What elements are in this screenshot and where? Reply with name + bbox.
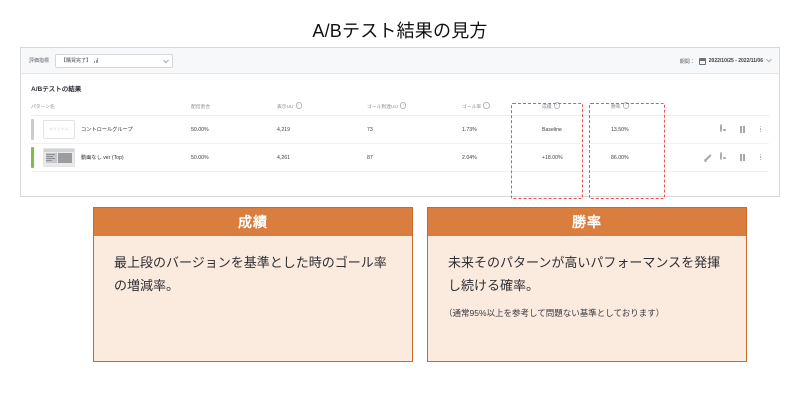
pause-icon[interactable] [738, 153, 747, 163]
callout-winrate-header: 勝率 [428, 208, 746, 236]
cell-delivery-ratio: 50.00% [191, 144, 277, 172]
info-icon[interactable] [623, 102, 630, 109]
info-icon[interactable] [296, 102, 303, 109]
pattern-thumbnail-screenshot[interactable] [43, 148, 75, 167]
cell-view-uu: 4,219 [277, 116, 367, 144]
pattern-name: コントロールグループ [81, 126, 133, 133]
period-label: 期間： [680, 58, 695, 65]
column-header-goal-rate: ゴール率 [462, 102, 542, 116]
kebab-menu-icon[interactable] [756, 153, 765, 163]
column-header-pattern: パターン名 [31, 102, 191, 116]
table-row[interactable]: オリジナル コントロールグループ 50.00% 4,219 73 1.73% B… [31, 116, 769, 144]
section-heading: A/Bテストの結果 [31, 83, 769, 93]
results-section: A/Bテストの結果 パターン名 配信割合 表示UU ゴール到達UU ゴール率 成… [21, 74, 779, 172]
cell-actions [684, 116, 769, 144]
row-accent-bar [31, 119, 34, 140]
column-header-goal-uu: ゴール到達UU [367, 102, 462, 116]
thumbnail-label: オリジナル [49, 127, 68, 132]
callout-winrate: 勝率 未来そのパターンが高いパフォーマンスを発揮し続ける確率。 （通常95%以上… [427, 207, 747, 362]
eye-icon[interactable] [720, 125, 729, 134]
cell-pattern: 動画なし ver (Top) [31, 144, 191, 172]
cell-goal-uu: 73 [367, 116, 462, 144]
cell-pattern: オリジナル コントロールグループ [31, 116, 191, 144]
chevron-down-icon [163, 57, 169, 63]
pattern-name: 動画なし ver (Top) [81, 154, 124, 161]
period-control[interactable]: 期間： 2022/10/25 - 2022/11/06 [680, 48, 771, 74]
callout-score-header: 成績 [94, 208, 412, 236]
cell-delivery-ratio: 50.00% [191, 116, 277, 144]
date-range-field[interactable]: 2022/10/25 - 2022/11/06 [699, 58, 763, 65]
cell-win-rate: 86.00% [611, 144, 684, 172]
pause-icon[interactable] [738, 125, 747, 135]
cell-goal-rate: 2.04% [462, 144, 542, 172]
pattern-thumbnail-original[interactable]: オリジナル [43, 120, 75, 139]
column-header-win-rate: 勝率 [611, 102, 684, 116]
info-icon[interactable] [483, 102, 490, 109]
bar-chart-icon [94, 58, 98, 63]
table-row[interactable]: 動画なし ver (Top) 50.00% 4,261 87 2.04% +18… [31, 144, 769, 172]
ab-results-table: パターン名 配信割合 表示UU ゴール到達UU ゴール率 成績 勝率 [31, 102, 769, 172]
callout-winrate-note: （通常95%以上を参考して問題ない基準としております） [428, 298, 746, 320]
date-range-value: 2022/10/25 - 2022/11/06 [709, 58, 763, 64]
metric-label: 評価指標 [29, 57, 49, 64]
info-icon[interactable] [554, 102, 561, 109]
metric-select-value: 【購買完了】 [61, 57, 91, 64]
chevron-down-icon [766, 57, 772, 63]
cell-view-uu: 4,261 [277, 144, 367, 172]
cell-goal-uu: 87 [367, 144, 462, 172]
cell-score: +18.00% [542, 144, 611, 172]
callout-score-body: 最上段のバージョンを基準とした時のゴール率の増減率。 [94, 236, 412, 298]
column-header-delivery-ratio: 配信割合 [191, 102, 277, 116]
row-accent-bar [31, 147, 34, 168]
kebab-menu-icon[interactable] [756, 125, 765, 135]
column-header-view-uu: 表示UU [277, 102, 367, 116]
table-header-row: パターン名 配信割合 表示UU ゴール到達UU ゴール率 成績 勝率 [31, 102, 769, 116]
page-title: A/Bテスト結果の見方 [0, 17, 800, 43]
column-header-actions [684, 102, 769, 116]
callout-score: 成績 最上段のバージョンを基準とした時のゴール率の増減率。 [93, 207, 413, 362]
app-toolbar: 評価指標 【購買完了】 期間： 2022/10/25 - 2022/11/06 [21, 48, 779, 74]
info-icon[interactable] [400, 102, 407, 109]
pencil-icon[interactable] [703, 154, 711, 162]
cell-win-rate: 13.50% [611, 116, 684, 144]
cell-actions [684, 144, 769, 172]
eye-icon[interactable] [720, 153, 729, 162]
column-header-score: 成績 [542, 102, 611, 116]
calendar-icon [699, 58, 706, 65]
metric-select[interactable]: 【購買完了】 [55, 54, 173, 68]
callout-winrate-body: 未来そのパターンが高いパフォーマンスを発揮し続ける確率。 [428, 236, 746, 298]
cell-goal-rate: 1.73% [462, 116, 542, 144]
cell-score: Baseline [542, 116, 611, 144]
ab-test-result-screenshot: 評価指標 【購買完了】 期間： 2022/10/25 - 2022/11/06 … [20, 47, 780, 197]
